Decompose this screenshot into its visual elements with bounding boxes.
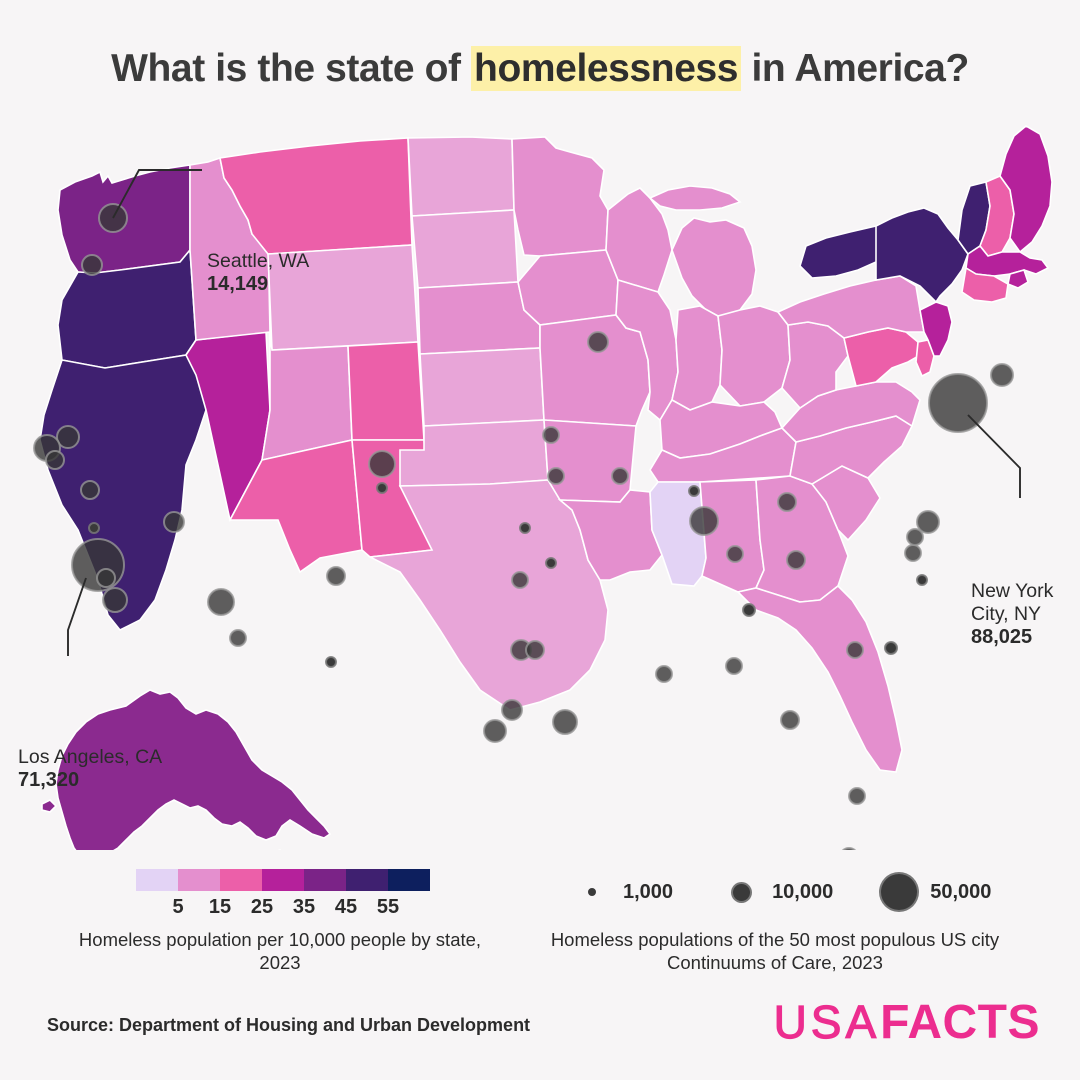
city-circle-new-york-city[interactable] bbox=[929, 374, 987, 432]
city-circle-minneapolis[interactable] bbox=[588, 332, 608, 352]
color-legend-tick-45: 45 bbox=[335, 896, 357, 919]
city-circle-charlotte[interactable] bbox=[847, 642, 863, 658]
city-circle-raleigh[interactable] bbox=[885, 642, 897, 654]
callout-seattle-city: Seattle, WA bbox=[207, 250, 309, 273]
size-legend-circle-10000 bbox=[731, 882, 752, 903]
size-legend-item-1000: 1,000 bbox=[570, 881, 673, 904]
us-choropleth-map bbox=[0, 110, 1080, 850]
state-MA[interactable] bbox=[966, 246, 1048, 276]
logo-facts-text: FACTS bbox=[880, 995, 1040, 1050]
state-OH[interactable] bbox=[718, 306, 790, 406]
state-AL[interactable] bbox=[700, 480, 764, 592]
map-container: Seattle, WA 14,149 New York City, NY 88,… bbox=[0, 110, 1080, 850]
city-circle-memphis[interactable] bbox=[656, 666, 672, 682]
size-legend-label-50000: 50,000 bbox=[930, 881, 991, 904]
callout-la-value: 71,320 bbox=[18, 769, 162, 792]
color-legend-tick-5: 5 bbox=[172, 896, 183, 919]
city-circle-louisville[interactable] bbox=[743, 604, 755, 616]
color-swatch-0 bbox=[136, 869, 178, 891]
color-legend-tick-35: 35 bbox=[293, 896, 315, 919]
size-legend-caption: Homeless populations of the 50 most popu… bbox=[530, 928, 1020, 974]
title-highlight-text: homelessness bbox=[471, 46, 741, 91]
color-swatch-1 bbox=[178, 869, 220, 891]
city-circle-fresno[interactable] bbox=[89, 523, 99, 533]
city-circle-tulsa[interactable] bbox=[546, 558, 556, 568]
color-swatch-5 bbox=[346, 869, 388, 891]
color-legend-tick-15: 15 bbox=[209, 896, 231, 919]
color-legend: 51525354555 bbox=[136, 869, 430, 920]
state-SD[interactable] bbox=[412, 210, 518, 288]
city-circle-virginia-beach[interactable] bbox=[917, 575, 927, 585]
title-post-text: in America? bbox=[741, 47, 969, 90]
city-circle-austin[interactable] bbox=[502, 700, 522, 720]
callout-la-city: Los Angeles, CA bbox=[18, 746, 162, 769]
city-circle-sacramento[interactable] bbox=[81, 481, 99, 499]
city-circle-atlanta[interactable] bbox=[781, 711, 799, 729]
color-legend-caption: Homeless population per 10,000 people by… bbox=[60, 928, 500, 974]
city-circle-fort-worth[interactable] bbox=[526, 641, 544, 659]
city-circle-san-antonio[interactable] bbox=[484, 720, 506, 742]
infographic-root: What is the state of homelessness in Ame… bbox=[0, 0, 1080, 1080]
color-legend-ticks: 51525354555 bbox=[136, 896, 430, 920]
size-legend-label-1000: 1,000 bbox=[623, 881, 673, 904]
callout-nyc-city-line2: City, NY bbox=[971, 603, 1053, 626]
city-circle-oklahoma-city[interactable] bbox=[512, 572, 528, 588]
city-circle-nashville[interactable] bbox=[726, 658, 742, 674]
state-KS[interactable] bbox=[420, 348, 544, 426]
state-ND[interactable] bbox=[408, 137, 514, 216]
city-circle-milwaukee[interactable] bbox=[689, 486, 699, 496]
size-legend-item-10000: 10,000 bbox=[719, 881, 833, 904]
city-circle-kansas-city[interactable] bbox=[548, 468, 564, 484]
size-legend: 1,00010,00050,000 bbox=[570, 872, 991, 912]
size-legend-circle-50000 bbox=[879, 872, 919, 912]
title-pre-text: What is the state of bbox=[111, 47, 471, 90]
color-legend-swatches bbox=[136, 869, 430, 891]
size-legend-circle-box bbox=[719, 882, 763, 903]
size-legend-item-50000: 50,000 bbox=[877, 872, 991, 912]
state-CA[interactable] bbox=[40, 340, 206, 630]
city-circle-colorado-springs[interactable] bbox=[377, 483, 387, 493]
state-IA[interactable] bbox=[518, 250, 618, 325]
logo-usa-text: USA bbox=[774, 995, 881, 1049]
state-shapes bbox=[40, 126, 1052, 850]
size-legend-circle-box bbox=[877, 872, 921, 912]
callout-new-york-city: New York City, NY 88,025 bbox=[971, 580, 1053, 649]
size-legend-circle-1000 bbox=[588, 888, 596, 896]
city-circle-st-louis[interactable] bbox=[612, 468, 628, 484]
city-circle-el-paso[interactable] bbox=[326, 657, 336, 667]
usafacts-logo[interactable]: USA FACTS bbox=[774, 995, 1040, 1050]
city-circle-tucson[interactable] bbox=[230, 630, 246, 646]
city-circle-tampa[interactable] bbox=[840, 848, 858, 850]
callout-los-angeles: Los Angeles, CA 71,320 bbox=[18, 746, 162, 792]
color-swatch-3 bbox=[262, 869, 304, 891]
state-IN[interactable] bbox=[672, 306, 722, 410]
city-circle-columbus[interactable] bbox=[787, 551, 805, 569]
color-legend-tick-25: 25 bbox=[251, 896, 273, 919]
source-note: Source: Department of Housing and Urban … bbox=[47, 1015, 530, 1036]
city-circle-boston[interactable] bbox=[991, 364, 1013, 386]
page-title: What is the state of homelessness in Ame… bbox=[111, 47, 969, 91]
city-circle-omaha[interactable] bbox=[543, 427, 559, 443]
state-MD[interactable] bbox=[844, 328, 922, 386]
callout-nyc-city-line1: New York bbox=[971, 580, 1053, 603]
size-legend-label-10000: 10,000 bbox=[772, 881, 833, 904]
color-swatch-6 bbox=[388, 869, 430, 891]
state-UT[interactable] bbox=[262, 332, 352, 460]
color-swatch-2 bbox=[220, 869, 262, 891]
city-circle-wichita[interactable] bbox=[520, 523, 530, 533]
city-circle-houston[interactable] bbox=[553, 710, 577, 734]
city-circle-las-vegas[interactable] bbox=[164, 512, 184, 532]
title-container: What is the state of homelessness in Ame… bbox=[0, 47, 1080, 91]
color-legend-tick-55: 55 bbox=[377, 896, 399, 919]
city-circle-san-jose[interactable] bbox=[46, 451, 64, 469]
city-circle-long-beach[interactable] bbox=[97, 569, 115, 587]
callout-seattle: Seattle, WA 14,149 bbox=[207, 250, 309, 296]
size-legend-circle-box bbox=[570, 888, 614, 896]
city-circle-chicago[interactable] bbox=[690, 507, 718, 535]
city-circle-phoenix[interactable] bbox=[208, 589, 234, 615]
callout-nyc-value: 88,025 bbox=[971, 626, 1053, 649]
city-circle-san-diego[interactable] bbox=[103, 588, 127, 612]
leader-line-new-york bbox=[968, 415, 1020, 498]
city-circle-detroit[interactable] bbox=[778, 493, 796, 511]
state-FL[interactable] bbox=[738, 586, 902, 772]
state-CO[interactable] bbox=[348, 342, 424, 440]
city-circle-philadelphia[interactable] bbox=[917, 511, 939, 533]
callout-seattle-value: 14,149 bbox=[207, 273, 309, 296]
color-swatch-4 bbox=[304, 869, 346, 891]
leader-line-los-angeles bbox=[68, 578, 86, 656]
city-circle-jacksonville[interactable] bbox=[849, 788, 865, 804]
city-circle-washington-dc[interactable] bbox=[905, 545, 921, 561]
city-circle-denver[interactable] bbox=[369, 451, 395, 477]
city-circle-portland[interactable] bbox=[82, 255, 102, 275]
city-circle-albuquerque[interactable] bbox=[327, 567, 345, 585]
city-circle-indianapolis[interactable] bbox=[727, 546, 743, 562]
state-MN[interactable] bbox=[512, 137, 608, 256]
